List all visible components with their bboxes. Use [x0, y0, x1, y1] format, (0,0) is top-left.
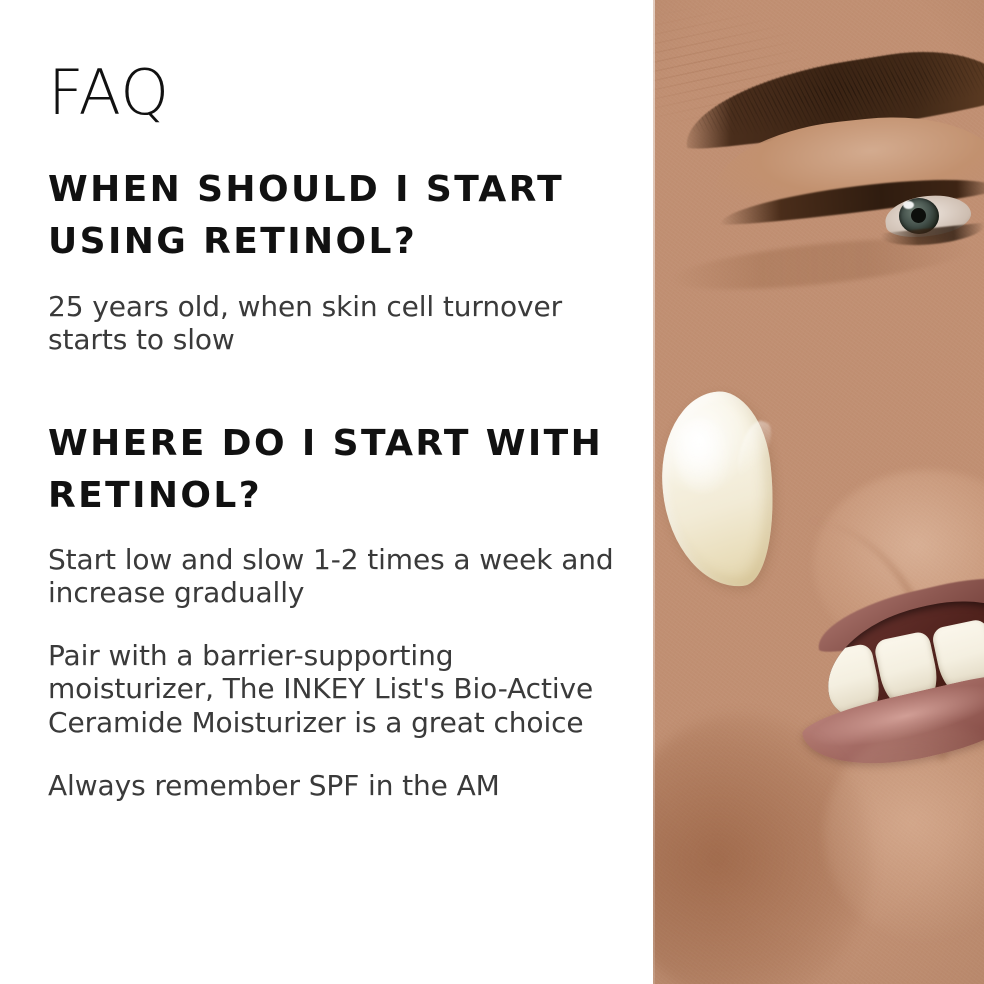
- faq-answer-2-2: Pair with a barrier-supporting moisturiz…: [48, 639, 628, 738]
- spacer: [48, 356, 653, 418]
- faq-item-1: WHEN SHOULD I START USING RETINOL? 25 ye…: [48, 164, 653, 356]
- faq-answer-1-1: 25 years old, when skin cell turnover st…: [48, 290, 628, 356]
- page-title: FAQ: [48, 62, 653, 124]
- faq-page: FAQ WHEN SHOULD I START USING RETINOL? 2…: [0, 0, 984, 984]
- faq-question-2: WHERE DO I START WITH RETINOL?: [48, 418, 648, 522]
- face-photo: [653, 0, 984, 984]
- faq-answer-2-1: Start low and slow 1-2 times a week and …: [48, 543, 628, 609]
- panel-edge-seam: [653, 0, 655, 984]
- eye-pupil: [911, 208, 926, 223]
- faq-question-1: WHEN SHOULD I START USING RETINOL?: [48, 164, 648, 268]
- eye-catchlight: [903, 201, 914, 209]
- faq-text-panel: FAQ WHEN SHOULD I START USING RETINOL? 2…: [0, 0, 653, 984]
- spacer: [48, 521, 653, 543]
- faq-item-2: WHERE DO I START WITH RETINOL? Start low…: [48, 418, 653, 802]
- faq-answer-2-3: Always remember SPF in the AM: [48, 769, 628, 802]
- spacer: [48, 609, 653, 639]
- spacer: [48, 268, 653, 290]
- spacer: [48, 739, 653, 769]
